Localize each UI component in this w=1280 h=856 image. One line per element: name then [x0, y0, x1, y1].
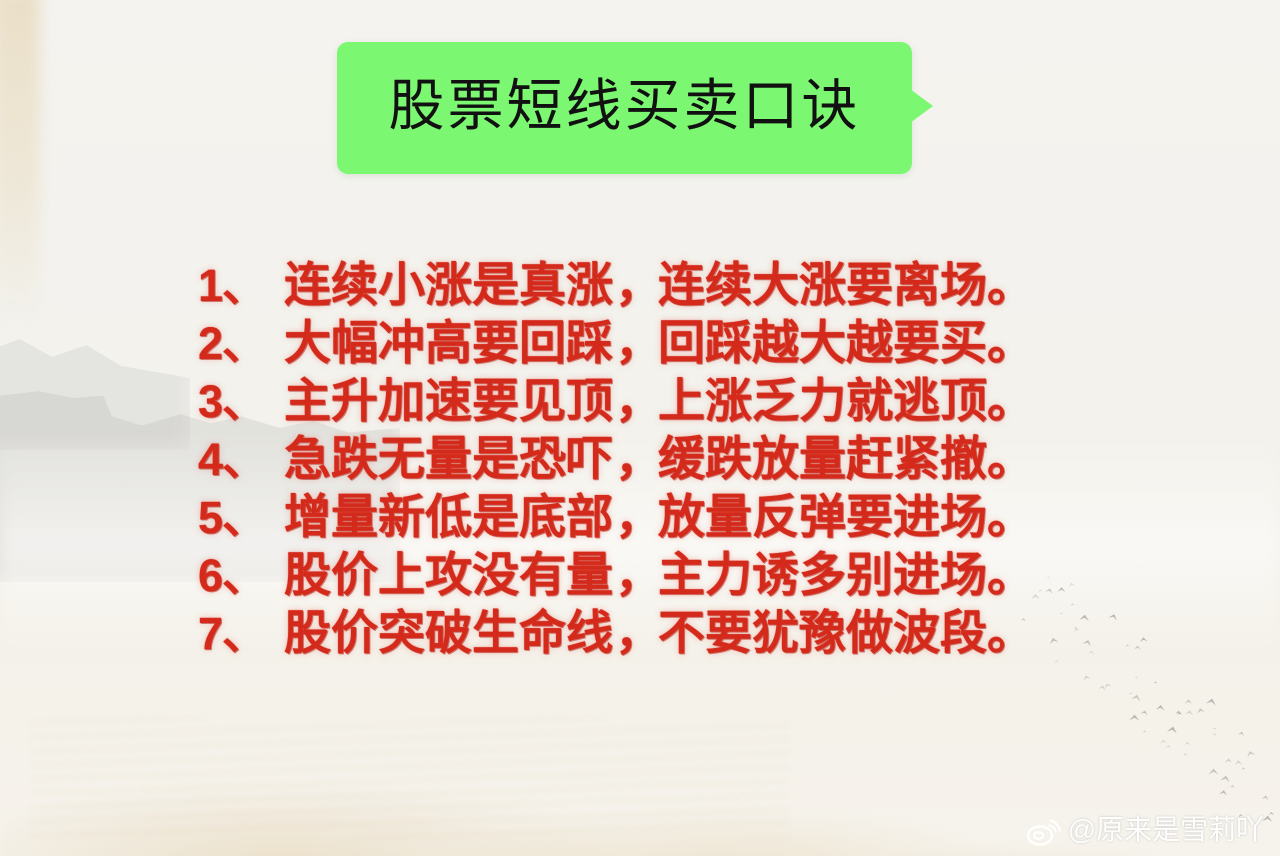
bird-icon: [1143, 730, 1147, 733]
bird-icon: [1131, 693, 1142, 701]
bird-icon: [1225, 759, 1232, 763]
bird-icon: [1229, 784, 1236, 789]
poster-canvas: 股票短线买卖口诀 1、 连续小涨是真涨 ， 连续大涨要离场。 2、 大幅冲高要回…: [0, 0, 1280, 856]
bird-icon: [1220, 774, 1231, 782]
rule-list: 1、 连续小涨是真涨 ， 连续大涨要离场。 2、 大幅冲高要回踩 ， 回踩越大越…: [198, 246, 1098, 652]
bird-icon: [1140, 709, 1149, 716]
bird-icon: [1220, 790, 1228, 796]
rule-clause-second: 不要犹豫做波段。: [658, 594, 1034, 663]
bird-icon: [1262, 795, 1269, 800]
rule-row: 5、 增量新低是底部 ， 放量反弹要进场。: [198, 478, 1098, 536]
title-bubble: 股票短线买卖口诀: [337, 42, 912, 174]
rule-row: 1、 连续小涨是真涨 ， 连续大涨要离场。: [198, 246, 1098, 304]
bird-icon: [1196, 707, 1204, 713]
bird-icon: [1246, 750, 1256, 757]
rule-number: 1、: [198, 249, 284, 314]
rule-number: 5、: [198, 481, 284, 546]
rule-number: 7、: [198, 597, 284, 662]
title-bubble-tail-icon: [910, 89, 933, 123]
bird-icon: [1140, 636, 1148, 641]
bird-icon: [1208, 768, 1218, 774]
bird-icon: [1185, 700, 1192, 704]
rule-separator: ，: [613, 594, 658, 663]
bird-icon: [1109, 613, 1119, 621]
bird-icon: [1213, 727, 1217, 729]
weibo-logo-icon: [1027, 816, 1061, 846]
watermark-handle: @原来是雪莉吖: [1068, 816, 1264, 846]
bird-icon: [1134, 645, 1141, 649]
bird-icon: [1268, 812, 1274, 816]
rule-clause-first: 股价突破生命线: [284, 594, 613, 663]
bird-icon: [1241, 767, 1245, 770]
rule-row: 4、 急跌无量是恐吓 ， 缓跌放量赶紧撤。: [198, 420, 1098, 478]
bird-icon: [1234, 760, 1242, 765]
bird-icon: [1184, 742, 1190, 746]
bird-icon: [1129, 715, 1139, 721]
background-shore-streaks: [30, 718, 790, 838]
rule-number: 2、: [198, 307, 284, 372]
watermark: @原来是雪莉吖: [1027, 816, 1264, 846]
bird-icon: [1125, 644, 1129, 647]
bird-icon: [1153, 681, 1157, 684]
rule-row: 3、 主升加速要见顶 ， 上涨乏力就逃顶。: [198, 362, 1098, 420]
rule-number: 6、: [198, 539, 284, 604]
page-title: 股票短线买卖口诀: [337, 42, 912, 174]
background-warm-edge: [0, 0, 40, 330]
rule-number: 3、: [198, 365, 284, 430]
rule-number: 4、: [198, 423, 284, 488]
bird-icon: [1135, 675, 1139, 678]
bird-icon: [1129, 692, 1132, 694]
bird-icon: [1185, 710, 1193, 716]
bird-icon: [1212, 732, 1217, 736]
bird-icon: [1083, 674, 1091, 680]
bird-icon: [1166, 745, 1172, 749]
bird-icon: [1103, 682, 1111, 688]
rule-row: 7、 股价突破生命线 ， 不要犹豫做波段。: [198, 594, 1098, 652]
bird-icon: [1156, 705, 1165, 711]
bird-icon: [1167, 725, 1178, 733]
bird-icon: [1054, 659, 1059, 663]
bird-icon: [1184, 753, 1188, 756]
bird-icon: [1238, 731, 1245, 736]
bird-icon: [1160, 739, 1166, 743]
bird-icon: [1206, 698, 1217, 706]
rule-row: 2、 大幅冲高要回踩 ， 回踩越大越要买。: [198, 304, 1098, 362]
rule-row: 6、 股价上攻没有量 ， 主力诱多别进场。: [198, 536, 1098, 594]
